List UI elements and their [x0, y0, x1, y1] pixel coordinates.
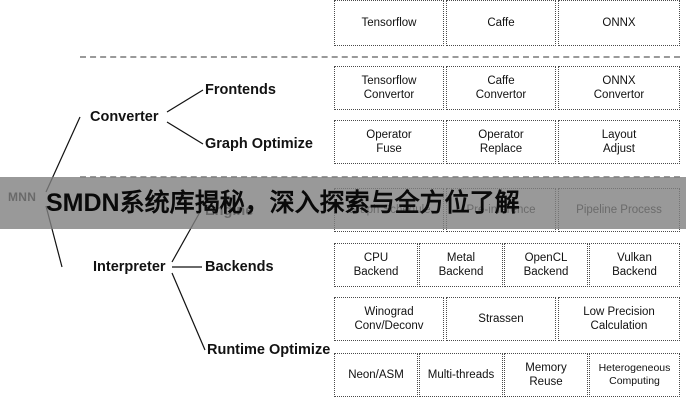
box-tensorflow[interactable]: Tensorflow — [334, 0, 444, 46]
divider-frameworks-converter — [80, 56, 680, 58]
box-layout-adjust[interactable]: Layout Adjust — [558, 120, 680, 164]
box-multi-threads[interactable]: Multi-threads — [419, 353, 503, 397]
box-label: Vulkan Backend — [610, 251, 659, 280]
box-heterogeneous-computing[interactable]: Heterogeneous Computing — [589, 353, 680, 397]
box-label: Low Precision Calculation — [581, 305, 657, 334]
box-metal-backend[interactable]: Metal Backend — [419, 243, 503, 287]
overlay-banner-title: SMDN系统库揭秘，深入探索与全方位了解 — [46, 191, 520, 216]
box-label: Metal Backend — [437, 251, 486, 280]
box-memory-reuse[interactable]: Memory Reuse — [504, 353, 588, 397]
box-label: Memory Reuse — [523, 361, 569, 390]
overlay-banner: SMDN系统库揭秘，深入探索与全方位了解 — [0, 177, 686, 229]
tree-node-graph-optimize[interactable]: Graph Optimize — [205, 137, 313, 152]
diagram-canvas: MNN Converter Frontends Graph Optimize I… — [0, 0, 686, 400]
box-onnx-convertor[interactable]: ONNX Convertor — [558, 66, 680, 110]
tree-node-frontends[interactable]: Frontends — [205, 83, 276, 98]
box-label: Tensorflow Convertor — [360, 74, 419, 103]
box-label: Operator Replace — [476, 128, 525, 157]
box-label: Tensorflow — [360, 16, 419, 30]
box-label: Winograd Conv/Deconv — [352, 305, 425, 334]
box-caffe-convertor[interactable]: Caffe Convertor — [446, 66, 556, 110]
box-strassen[interactable]: Strassen — [446, 297, 556, 341]
box-vulkan-backend[interactable]: Vulkan Backend — [589, 243, 680, 287]
box-label: Caffe Convertor — [474, 74, 529, 103]
box-tensorflow-convertor[interactable]: Tensorflow Convertor — [334, 66, 444, 110]
box-label: CPU Backend — [352, 251, 401, 280]
tree-node-interpreter[interactable]: Interpreter — [93, 260, 166, 275]
box-label: Neon/ASM — [346, 368, 406, 382]
box-opencl-backend[interactable]: OpenCL Backend — [504, 243, 588, 287]
box-label: Caffe — [485, 16, 516, 30]
box-label: OpenCL Backend — [522, 251, 571, 280]
box-onnx[interactable]: ONNX — [558, 0, 680, 46]
tree-node-converter[interactable]: Converter — [90, 110, 159, 125]
box-label: ONNX Convertor — [592, 74, 647, 103]
box-neon-asm[interactable]: Neon/ASM — [334, 353, 418, 397]
box-cpu-backend[interactable]: CPU Backend — [334, 243, 418, 287]
box-label: Multi-threads — [426, 368, 496, 382]
box-operator-fuse[interactable]: Operator Fuse — [334, 120, 444, 164]
box-label: Strassen — [476, 312, 525, 326]
box-operator-replace[interactable]: Operator Replace — [446, 120, 556, 164]
box-label: Layout Adjust — [600, 128, 639, 157]
box-caffe[interactable]: Caffe — [446, 0, 556, 46]
box-label: ONNX — [600, 16, 637, 30]
box-label: Heterogeneous Computing — [597, 362, 673, 388]
box-winograd[interactable]: Winograd Conv/Deconv — [334, 297, 444, 341]
box-label: Operator Fuse — [364, 128, 413, 157]
tree-node-runtime-optimize[interactable]: Runtime Optimize — [207, 343, 330, 358]
tree-node-backends[interactable]: Backends — [205, 260, 274, 275]
box-low-precision-calculation[interactable]: Low Precision Calculation — [558, 297, 680, 341]
